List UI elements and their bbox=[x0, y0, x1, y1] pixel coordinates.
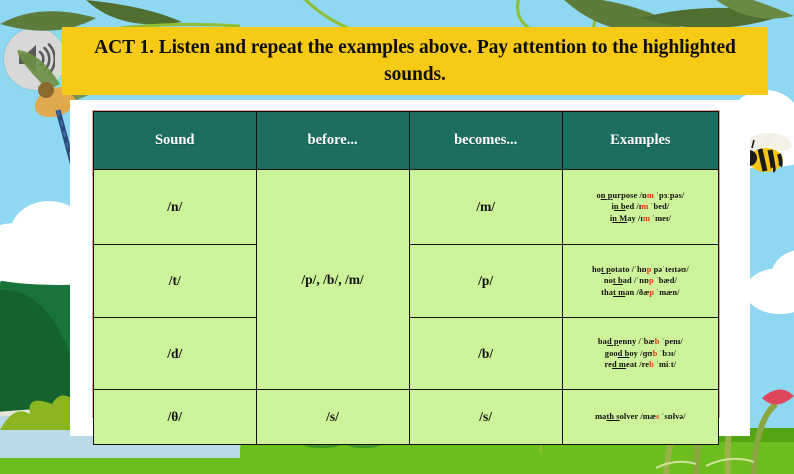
example-text: t b bbox=[613, 276, 623, 285]
cell-sound: /n/ bbox=[94, 170, 257, 245]
example-text: d p bbox=[607, 337, 619, 346]
example-line: on purpose /ɒm ˈpɜːpəs/ bbox=[567, 190, 714, 202]
example-text: ˈpenɪ/ bbox=[659, 337, 682, 346]
example-text: ˈpɜːpəs/ bbox=[654, 191, 684, 200]
example-text: urpose /ɒ bbox=[613, 191, 647, 200]
example-text: n b bbox=[614, 202, 626, 211]
example-line: good boy /ɡʊb ˈbɔɪ/ bbox=[567, 348, 714, 360]
example-text: oy /ɡʊ bbox=[629, 349, 652, 358]
example-text: ho bbox=[592, 265, 601, 274]
example-line: not bad /ˈnɒp ˈbæd/ bbox=[567, 275, 714, 287]
highlighted-sound: m bbox=[647, 191, 654, 200]
example-text: eat /re bbox=[626, 360, 649, 369]
cell-examples: hot potato /ˈhɒp pəˈteɪtəʊ/not bad /ˈnɒp… bbox=[562, 245, 718, 318]
example-text: ˈmeɪ/ bbox=[650, 214, 671, 223]
example-text: olver /mæ bbox=[620, 412, 656, 421]
example-text: ˈsɒlvə/ bbox=[659, 412, 685, 421]
example-text: ˈbæd/ bbox=[654, 276, 677, 285]
cell-sound: /t/ bbox=[94, 245, 257, 318]
example-text: goo bbox=[605, 349, 618, 358]
cell-examples: on purpose /ɒm ˈpɜːpəs/in bed /ɪm ˈbed/i… bbox=[562, 170, 718, 245]
assimilation-table: Sound before... becomes... Examples /n//… bbox=[93, 111, 719, 445]
example-text: ˈbɔɪ/ bbox=[657, 349, 676, 358]
example-line: that man /ðæp ˈmæn/ bbox=[567, 287, 714, 299]
example-text: pəˈteɪtəʊ/ bbox=[651, 265, 688, 274]
cell-examples: math solver /mæs ˈsɒlvə/ bbox=[562, 390, 718, 445]
example-text: t p bbox=[601, 265, 611, 274]
activity-banner: ACT 1. Listen and repeat the examples ab… bbox=[62, 27, 768, 95]
cell-becomes: /m/ bbox=[409, 170, 562, 245]
col-header-sound: Sound bbox=[94, 112, 257, 170]
example-text: d b bbox=[618, 349, 630, 358]
col-header-becomes: becomes... bbox=[409, 112, 562, 170]
example-text: enny /ˈbæ bbox=[619, 337, 655, 346]
cell-becomes: /p/ bbox=[409, 245, 562, 318]
cell-sound: /d/ bbox=[94, 318, 257, 390]
activity-title: ACT 1. Listen and repeat the examples ab… bbox=[62, 34, 768, 88]
example-line: red meat /reb ˈmiːt/ bbox=[567, 359, 714, 371]
example-line: in bed /ɪm ˈbed/ bbox=[567, 201, 714, 213]
example-text: ad /ˈnɒ bbox=[623, 276, 649, 285]
slide-canvas: ACT 1. Listen and repeat the examples ab… bbox=[0, 0, 794, 474]
example-line: in May /ɪm ˈmeɪ/ bbox=[567, 213, 714, 225]
example-text: an /ðæ bbox=[625, 288, 649, 297]
example-text: n M bbox=[612, 214, 627, 223]
highlighted-sound: m bbox=[643, 214, 650, 223]
cell-becomes: /s/ bbox=[409, 390, 562, 445]
example-line: math solver /mæs ˈsɒlvə/ bbox=[567, 411, 714, 423]
example-text: d m bbox=[612, 360, 626, 369]
example-text: ba bbox=[598, 337, 607, 346]
col-header-before: before... bbox=[256, 112, 409, 170]
example-text: t m bbox=[613, 288, 625, 297]
cell-before-merged: /p/, /b/, /m/ bbox=[256, 170, 409, 390]
example-text: ed /ɪ bbox=[626, 202, 642, 211]
example-line: bad penny /ˈbæb ˈpenɪ/ bbox=[567, 336, 714, 348]
cell-becomes: /b/ bbox=[409, 318, 562, 390]
example-text: ˈmiːt/ bbox=[654, 360, 676, 369]
cell-examples: bad penny /ˈbæb ˈpenɪ/good boy /ɡʊb ˈbɔɪ… bbox=[562, 318, 718, 390]
table-header-row: Sound before... becomes... Examples bbox=[94, 112, 719, 170]
example-text: re bbox=[605, 360, 612, 369]
example-text: no bbox=[604, 276, 613, 285]
assimilation-table-wrapper: Sound before... becomes... Examples /n//… bbox=[92, 110, 720, 418]
example-text: otato /ˈhɒ bbox=[611, 265, 647, 274]
table-body: /n//p/, /b/, /m//m/on purpose /ɒm ˈpɜːpə… bbox=[94, 170, 719, 445]
example-text: n p bbox=[601, 191, 613, 200]
example-text: ma bbox=[595, 412, 606, 421]
example-line: hot potato /ˈhɒp pəˈteɪtəʊ/ bbox=[567, 264, 714, 276]
example-text: ay /ɪ bbox=[627, 214, 643, 223]
example-text: th s bbox=[606, 412, 619, 421]
table-row: /n//p/, /b/, /m//m/on purpose /ɒm ˈpɜːpə… bbox=[94, 170, 719, 245]
table-row: /θ//s//s/math solver /mæs ˈsɒlvə/ bbox=[94, 390, 719, 445]
example-text: ˈmæn/ bbox=[654, 288, 680, 297]
example-text: tha bbox=[601, 288, 613, 297]
col-header-examples: Examples bbox=[562, 112, 718, 170]
cell-sound: /θ/ bbox=[94, 390, 257, 445]
cell-before: /s/ bbox=[256, 390, 409, 445]
example-text: ˈbed/ bbox=[648, 202, 669, 211]
